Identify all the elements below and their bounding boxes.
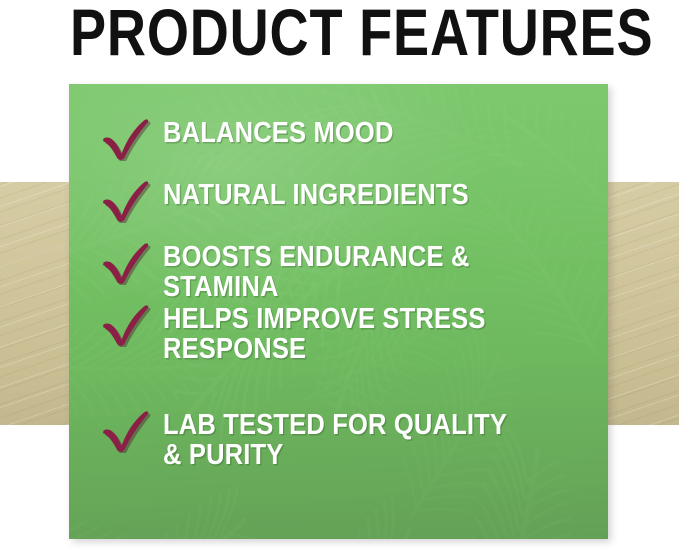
check-icon [99, 241, 153, 285]
check-icon [99, 179, 153, 223]
page-title: PRODUCT FEATURES [70, 0, 513, 68]
feature-item: NATURAL INGREDIENTS [99, 179, 604, 223]
feature-label: BALANCES MOOD [163, 117, 551, 148]
product-features-graphic: PRODUCT FEATURES [0, 0, 679, 550]
feature-item: BALANCES MOOD [99, 117, 604, 161]
features-list: BALANCES MOOD NATURAL INGREDIENTS [69, 84, 608, 539]
features-panel: BALANCES MOOD NATURAL INGREDIENTS [69, 84, 608, 539]
feature-label: BOOSTS ENDURANCE & STAMINA [163, 241, 551, 302]
check-icon [99, 409, 153, 453]
feature-item: LAB TESTED FOR QUALITY & PURITY [99, 409, 604, 470]
feature-item: HELPS IMPROVE STRESS RESPONSE [99, 303, 604, 364]
feature-label: LAB TESTED FOR QUALITY & PURITY [163, 409, 551, 470]
feature-label: HELPS IMPROVE STRESS RESPONSE [163, 303, 551, 364]
check-icon [99, 117, 153, 161]
feature-item: BOOSTS ENDURANCE & STAMINA [99, 241, 604, 302]
check-icon [99, 303, 153, 347]
feature-label: NATURAL INGREDIENTS [163, 179, 551, 210]
